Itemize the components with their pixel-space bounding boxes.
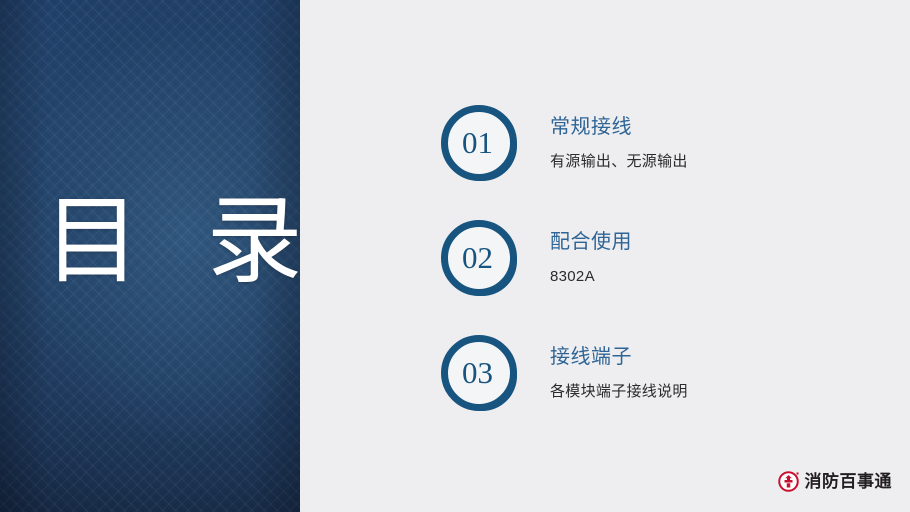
list-item-subtitle: 有源输出、无源输出 [550, 152, 688, 172]
list-item[interactable]: 01 常规接线 有源输出、无源输出 [441, 97, 881, 189]
list-item[interactable]: 03 接线端子 各模块端子接线说明 [441, 327, 881, 419]
page-title: 目 录 [44, 186, 300, 296]
list-item-heading: 常规接线 [550, 114, 688, 141]
brand-name: 消防百事通 [805, 471, 893, 492]
list-item-subtitle: 8302A [550, 267, 632, 287]
list-item-text: 配合使用 8302A [550, 229, 632, 287]
table-of-contents-list: 01 常规接线 有源输出、无源输出 02 配合使用 8302A [304, 0, 910, 512]
badge-number: 01 [441, 105, 517, 181]
list-item[interactable]: 02 配合使用 8302A [441, 212, 881, 304]
list-item-heading: 接线端子 [550, 344, 688, 371]
presentation-slide: 目 录 01 常规接线 有源输出、无源输出 [0, 0, 910, 512]
list-item-subtitle: 各模块端子接线说明 [550, 382, 688, 402]
list-item-text: 接线端子 各模块端子接线说明 [550, 344, 688, 402]
badge-number: 02 [441, 220, 517, 296]
number-badge-icon: 03 [441, 335, 517, 411]
number-badge-icon: 02 [441, 220, 517, 296]
fire-safety-logo-icon [778, 471, 799, 492]
number-badge-icon: 01 [441, 105, 517, 181]
brand-logo: 消防百事通 [778, 469, 893, 493]
badge-number: 03 [441, 335, 517, 411]
list-item-text: 常规接线 有源输出、无源输出 [550, 114, 688, 172]
content-panel: 01 常规接线 有源输出、无源输出 02 配合使用 8302A [304, 0, 910, 512]
list-item-heading: 配合使用 [550, 229, 632, 256]
title-panel: 目 录 [0, 0, 300, 512]
